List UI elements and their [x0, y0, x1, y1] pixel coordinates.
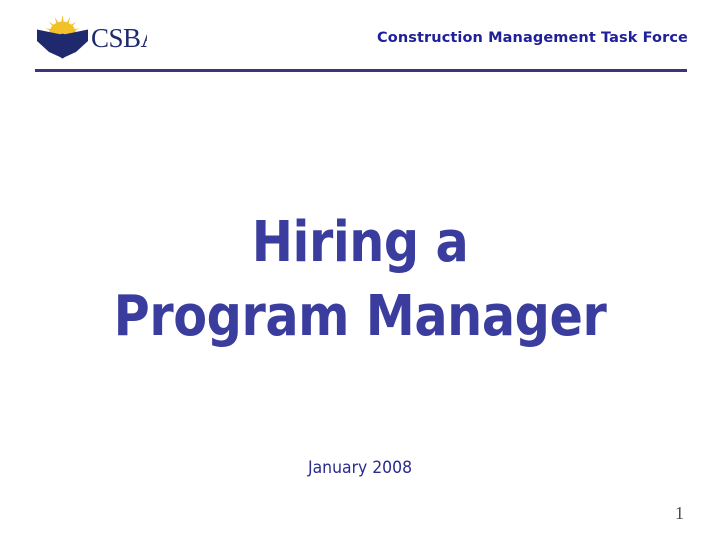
- slide-title-line-2: Program Manager: [43, 280, 677, 354]
- book-icon: [37, 30, 88, 59]
- header-divider-rule: [35, 69, 687, 72]
- slide-title-line-1: Hiring a: [43, 206, 677, 280]
- slide-header: CSBA Construction Management Task Force: [0, 0, 720, 72]
- slide-page-number: 1: [675, 503, 684, 524]
- slide-date: January 2008: [29, 458, 691, 478]
- header-task-force-title: Construction Management Task Force: [377, 30, 688, 46]
- presentation-slide: CSBA Construction Management Task Force …: [0, 0, 720, 540]
- csba-wordmark: CSBA: [91, 23, 147, 53]
- slide-title-block: Hiring a Program Manager: [0, 206, 720, 354]
- csba-logo: CSBA: [35, 11, 147, 59]
